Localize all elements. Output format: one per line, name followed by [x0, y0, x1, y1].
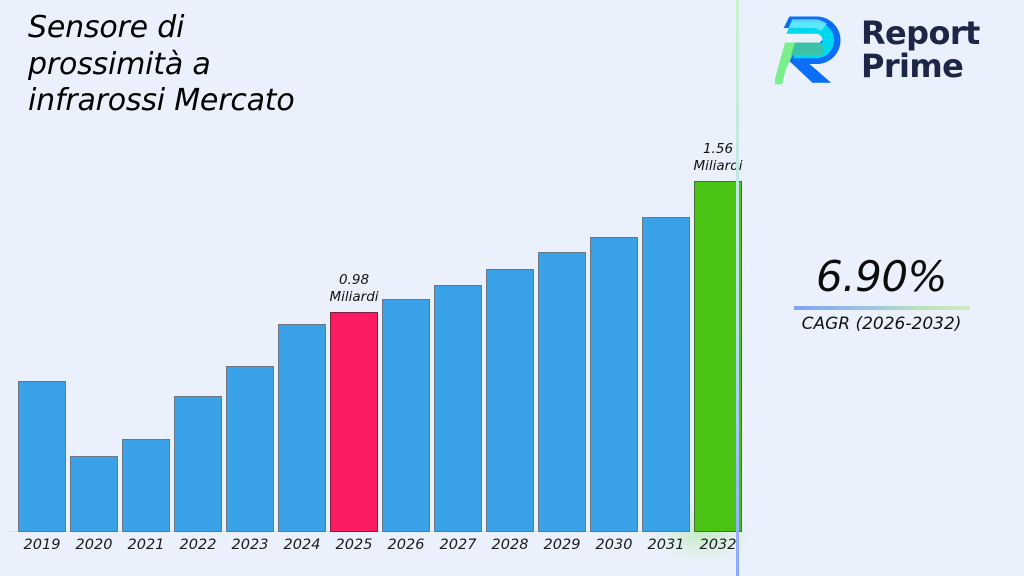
bar-rect-2022[interactable]: [174, 396, 222, 532]
bar-2020[interactable]: [70, 456, 118, 532]
x-tick-label-2030: 2030: [584, 537, 644, 553]
bar-2023[interactable]: [226, 366, 274, 532]
bar-rect-2019[interactable]: [18, 381, 66, 532]
x-tick-label-2025: 2025: [324, 537, 384, 553]
x-tick-label-2026: 2026: [376, 537, 436, 553]
x-tick-label-2023: 2023: [220, 537, 280, 553]
bar-2031[interactable]: [642, 217, 690, 532]
cagr-block: 6.90% CAGR (2026-2032): [739, 255, 1024, 334]
cagr-value: 6.90%: [739, 255, 1024, 299]
brand-logo[interactable]: Report Prime: [775, 12, 980, 88]
bar-2022[interactable]: [174, 396, 222, 532]
bar-rect-2027[interactable]: [434, 285, 482, 532]
x-tick-label-2020: 2020: [64, 537, 124, 553]
bar-2028[interactable]: [486, 269, 534, 532]
infographic-root: Sensore di prossimità a infrarossi Merca…: [0, 0, 1024, 576]
bar-2021[interactable]: [122, 439, 170, 532]
bar-rect-2031[interactable]: [642, 217, 690, 532]
cagr-divider-rule: [794, 306, 970, 310]
bar-chart-plot-area: 2019202020212022202320240.98 Miliardi202…: [0, 0, 737, 576]
bar-rect-2020[interactable]: [70, 456, 118, 532]
bar-2029[interactable]: [538, 252, 586, 532]
x-tick-label-2024: 2024: [272, 537, 332, 553]
bar-2024[interactable]: [278, 324, 326, 532]
bar-2032[interactable]: 1.56 Miliardi: [694, 181, 742, 532]
x-tick-label-2029: 2029: [532, 537, 592, 553]
x-tick-label-2028: 2028: [480, 537, 540, 553]
bar-rect-2032[interactable]: [694, 181, 742, 532]
bar-rect-2028[interactable]: [486, 269, 534, 532]
bar-2027[interactable]: [434, 285, 482, 532]
x-tick-label-2019: 2019: [12, 537, 72, 553]
x-tick-label-2031: 2031: [636, 537, 696, 553]
bar-rect-2030[interactable]: [590, 237, 638, 532]
bar-2026[interactable]: [382, 299, 430, 532]
bar-rect-2023[interactable]: [226, 366, 274, 532]
bar-2019[interactable]: [18, 381, 66, 532]
x-tick-label-2021: 2021: [116, 537, 176, 553]
chart-panel: Sensore di prossimità a infrarossi Merca…: [0, 0, 737, 576]
bar-rect-2021[interactable]: [122, 439, 170, 532]
bar-2025[interactable]: 0.98 Miliardi: [330, 312, 378, 532]
cagr-caption: CAGR (2026-2032): [739, 314, 1024, 334]
brand-wordmark: Report Prime: [861, 17, 980, 82]
bar-rect-2025[interactable]: [330, 312, 378, 532]
info-panel: Report Prime 6.90% CAGR (2026-2032): [739, 0, 1024, 576]
x-tick-label-2027: 2027: [428, 537, 488, 553]
bar-rect-2029[interactable]: [538, 252, 586, 532]
x-tick-label-2022: 2022: [168, 537, 228, 553]
report-prime-mark-icon: [775, 12, 847, 88]
bar-rect-2026[interactable]: [382, 299, 430, 532]
bar-2030[interactable]: [590, 237, 638, 532]
bar-rect-2024[interactable]: [278, 324, 326, 532]
